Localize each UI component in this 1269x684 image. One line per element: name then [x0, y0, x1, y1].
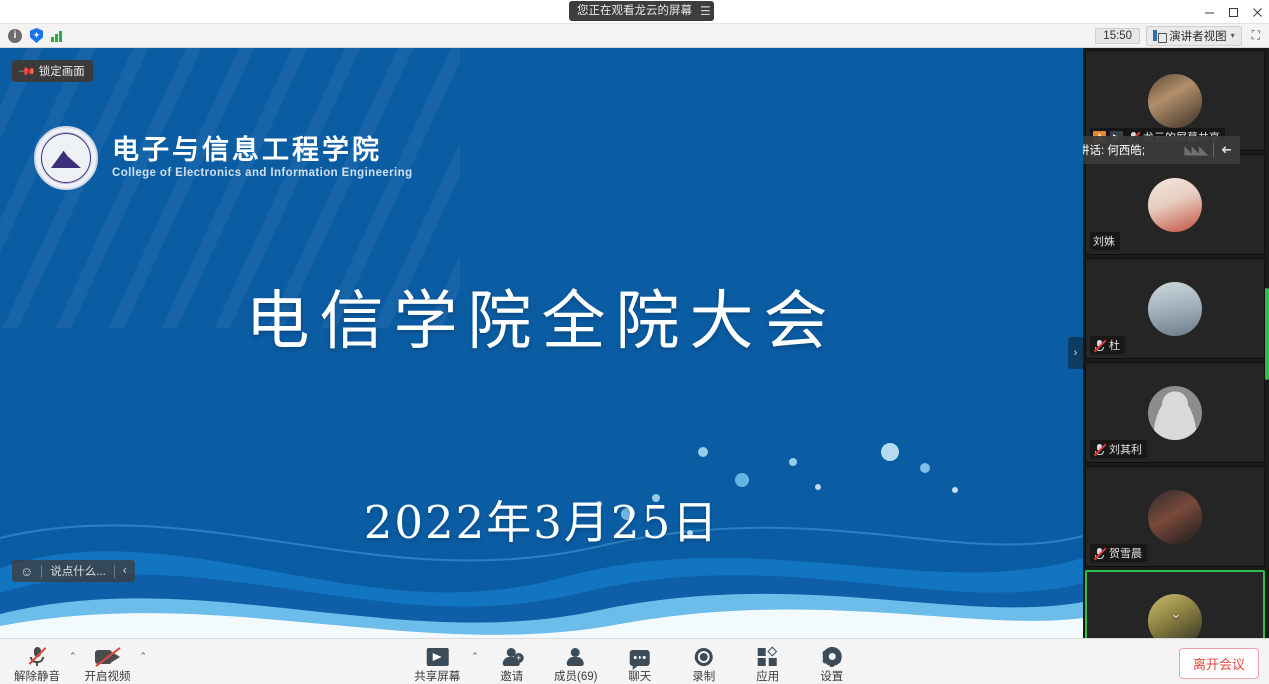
avatar — [1148, 386, 1202, 440]
smiley-icon[interactable]: ☺ — [12, 560, 41, 582]
viewing-share-notice: 您正在观看龙云的屏幕 ☰ — [569, 1, 714, 21]
info-icon[interactable]: i — [8, 29, 22, 43]
share-screen-label: 共享屏幕 — [414, 668, 460, 684]
start-video-button[interactable]: 开启视频 — [77, 642, 139, 684]
fullscreen-icon[interactable]: ⛶ — [1248, 28, 1263, 43]
chat-button[interactable]: 聊天 — [609, 642, 671, 684]
participant-name: 刘其利 — [1109, 441, 1142, 457]
apps-icon — [758, 644, 778, 666]
video-options-chevron-icon[interactable]: ⌃ — [139, 651, 148, 676]
maximize-icon[interactable] — [1221, 0, 1245, 24]
slide-date: 2022年3月25日 — [0, 486, 1083, 551]
participant-label: 贺雪晨 — [1090, 544, 1147, 562]
toolbar-center-group: 共享屏幕 ⌃ + 邀请 成员(69) — [406, 642, 863, 684]
toolbar-left-group: 解除静音 ⌃ 开启视频 ⌃ — [6, 642, 147, 684]
pin-icon: 📌 — [17, 62, 36, 81]
speaking-now-toast: 正在讲话: 何西皓; ◣◣◣ ➜ — [1083, 136, 1240, 164]
window-controls — [1197, 0, 1269, 24]
settings-button[interactable]: 设置 — [801, 642, 863, 684]
share-screen-button[interactable]: 共享屏幕 — [406, 642, 468, 684]
slide-title: 电信学院全院大会 — [0, 270, 1083, 362]
chevron-down-icon[interactable]: ⌄ — [1171, 606, 1182, 622]
share-options-chevron-icon[interactable]: ⌃ — [470, 651, 479, 676]
record-button[interactable]: 录制 — [673, 642, 735, 684]
college-name-cn: 电子与信息工程学院 — [112, 137, 413, 165]
settings-label: 设置 — [820, 668, 843, 684]
signal-bars-icon[interactable] — [51, 30, 62, 42]
participant-tile[interactable]: 贺雪晨 — [1085, 466, 1265, 567]
status-right: 15:50 演讲者视图 ▾ ⛶ — [1095, 26, 1269, 46]
chat-placeholder[interactable]: 说点什么... — [42, 560, 114, 582]
record-icon — [695, 644, 713, 666]
mic-off-icon — [1093, 547, 1105, 560]
view-mode-selector[interactable]: 演讲者视图 ▾ — [1146, 26, 1242, 46]
zoom-meeting-window: 您正在观看龙云的屏幕 ☰ i ✦ 15:50 — [0, 0, 1269, 684]
speaker-view-icon — [1153, 30, 1165, 41]
leave-meeting-button[interactable]: 离开会议 — [1179, 648, 1259, 679]
participant-name: 杜 — [1109, 337, 1120, 353]
view-mode-label: 演讲者视图 — [1169, 28, 1227, 44]
filmstrip-collapse-button[interactable]: › — [1068, 337, 1083, 369]
avatar — [1148, 74, 1202, 128]
chat-icon — [630, 644, 650, 666]
invite-button[interactable]: + 邀请 — [481, 642, 543, 684]
participant-tile[interactable]: 杜 — [1085, 258, 1265, 359]
participants-button[interactable]: 成员(69) — [545, 642, 607, 684]
participant-tile[interactable]: 刘姝 — [1085, 154, 1265, 255]
participant-label: 刘姝 — [1090, 232, 1120, 250]
lock-screen-button[interactable]: 📌 锁定画面 — [12, 60, 93, 82]
window-titlebar: 您正在观看龙云的屏幕 ☰ — [0, 0, 1269, 24]
participant-name: 贺雪晨 — [1109, 545, 1142, 561]
mic-options-chevron-icon[interactable]: ⌃ — [68, 651, 77, 676]
avatar — [1148, 282, 1202, 336]
floating-chat-input[interactable]: ☺ 说点什么... ‹ — [12, 560, 135, 582]
shield-icon[interactable]: ✦ — [30, 28, 43, 43]
unmute-button[interactable]: 解除静音 — [6, 642, 68, 684]
college-name-en: College of Electronics and Information E… — [112, 167, 413, 179]
record-label: 录制 — [692, 668, 715, 684]
mic-off-icon — [1093, 443, 1105, 456]
viewing-share-text: 您正在观看龙云的屏幕 — [577, 1, 692, 21]
participant-label: 刘其利 — [1090, 440, 1147, 458]
reply-arrow-icon[interactable]: ➜ — [1221, 142, 1232, 158]
minimize-icon[interactable] — [1197, 0, 1221, 24]
camera-off-icon — [95, 644, 121, 666]
status-toolbar: i ✦ 15:50 演讲者视图 ▾ ⛶ — [0, 24, 1269, 48]
presentation-slide: 电子与信息工程学院 College of Electronics and Inf… — [0, 48, 1083, 638]
toast-divider — [1213, 143, 1214, 157]
avatar — [1148, 178, 1202, 232]
participant-name: 刘姝 — [1093, 233, 1115, 249]
close-icon[interactable] — [1245, 0, 1269, 24]
participant-label: 杜 — [1090, 336, 1125, 354]
participant-filmstrip[interactable]: ♟▶龙云的屏幕共享刘姝杜刘其利贺雪晨 正在讲话: 何西皓; ◣◣◣ ➜ ⌄ — [1083, 48, 1269, 638]
sound-wave-icon: ◣◣◣ — [1184, 143, 1206, 157]
share-screen-icon — [426, 644, 448, 666]
participant-tile[interactable] — [1085, 570, 1265, 638]
chevron-down-icon: ▾ — [1231, 31, 1235, 40]
filmstrip-scrollbar[interactable] — [1265, 288, 1269, 380]
invite-icon: + — [502, 644, 522, 666]
mic-off-icon — [28, 644, 46, 666]
meeting-toolbar: 解除静音 ⌃ 开启视频 ⌃ 共享屏幕 ⌃ + — [0, 638, 1269, 684]
toolbar-right-group: 离开会议 — [1179, 648, 1259, 679]
mic-off-icon — [1093, 339, 1105, 352]
apps-button[interactable]: 应用 — [737, 642, 799, 684]
university-crest-icon — [34, 126, 98, 190]
college-logo: 电子与信息工程学院 College of Electronics and Inf… — [34, 126, 413, 190]
meeting-clock: 15:50 — [1095, 28, 1140, 44]
participants-label: 成员(69) — [554, 668, 597, 684]
shared-screen-stage[interactable]: 电子与信息工程学院 College of Electronics and Inf… — [0, 48, 1083, 638]
unmute-label: 解除静音 — [14, 668, 60, 684]
participants-icon — [566, 644, 586, 666]
invite-label: 邀请 — [500, 668, 523, 684]
chat-label: 聊天 — [628, 668, 651, 684]
hamburger-icon[interactable]: ☰ — [700, 1, 710, 21]
participant-tile[interactable]: 刘其利 — [1085, 362, 1265, 463]
settings-gear-icon — [822, 644, 841, 666]
speaking-now-text: 正在讲话: 何西皓; — [1083, 142, 1145, 158]
status-icons: i ✦ — [0, 28, 62, 43]
apps-label: 应用 — [756, 668, 779, 684]
avatar — [1148, 490, 1202, 544]
start-video-label: 开启视频 — [85, 668, 131, 684]
lock-screen-label: 锁定画面 — [39, 63, 85, 79]
chevron-left-icon[interactable]: ‹ — [115, 560, 135, 582]
